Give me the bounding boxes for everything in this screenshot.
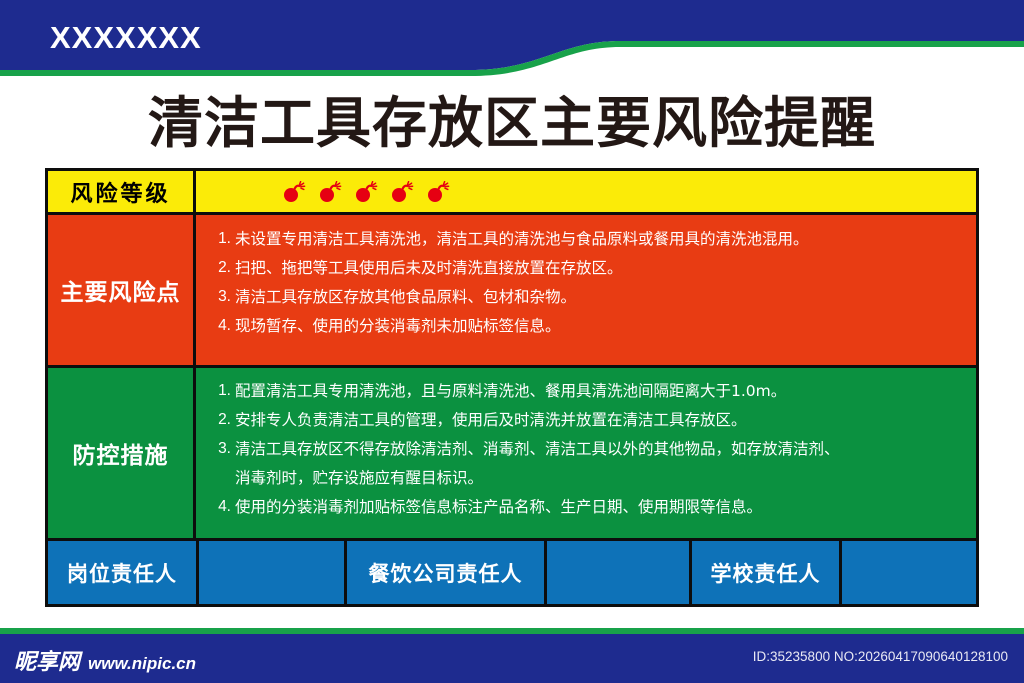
list-item: 1. 配置清洁工具专用清洗池，且与原料清洗池、餐用具清洗池间隔距离大于1.0m。: [209, 379, 966, 403]
list-item-number: 2.: [209, 408, 231, 432]
responsibility-label-position: 岗位责任人: [48, 541, 196, 604]
table-row-responsibility: 岗位责任人 餐饮公司责任人 学校责任人: [48, 541, 976, 604]
measures-list: 1. 配置清洁工具专用清洗池，且与原料清洗池、餐用具清洗池间隔距离大于1.0m。…: [196, 368, 976, 538]
page-title: 清洁工具存放区主要风险提醒: [0, 96, 1024, 151]
list-item-number: 4.: [209, 314, 231, 338]
table-row-risk-level: 风险等级: [48, 171, 976, 212]
watermark-id: ID:35235800 NO:20260417090640128100: [753, 649, 1008, 664]
risk-level-label: 风险等级: [48, 171, 196, 212]
watermark-logo-text: 昵享网: [14, 644, 80, 676]
list-item: 3. 清洁工具存放区不得存放除清洁剂、消毒剂、清洁工具以外的其他物品，如存放清洁…: [209, 437, 966, 461]
list-item-text: 安排专人负责清洁工具的管理，使用后及时清洗并放置在清洁工具存放区。: [235, 408, 966, 432]
list-item-number: 1.: [209, 227, 231, 251]
bomb-icon: [390, 181, 414, 203]
list-item-text: 配置清洁工具专用清洗池，且与原料清洗池、餐用具清洗池间隔距离大于1.0m。: [235, 379, 966, 403]
list-item-number: 3.: [209, 285, 231, 309]
header-band: XXXXXXX: [0, 0, 1024, 80]
bomb-icon: [354, 181, 378, 203]
list-item: 2. 安排专人负责清洁工具的管理，使用后及时清洗并放置在清洁工具存放区。: [209, 408, 966, 432]
risk-table: 风险等级: [45, 168, 979, 607]
list-item-number: 1.: [209, 379, 231, 403]
list-item: 2. 扫把、拖把等工具使用后未及时清洗直接放置在存放区。: [209, 256, 966, 280]
bomb-icon: [282, 181, 306, 203]
list-item-text: 未设置专用清洁工具清洗池，清洁工具的清洗池与食品原料或餐用具的清洗池混用。: [235, 227, 966, 251]
responsibility-value-school[interactable]: [839, 541, 976, 604]
list-item: 1. 未设置专用清洁工具清洗池，清洁工具的清洗池与食品原料或餐用具的清洗池混用。: [209, 227, 966, 251]
bomb-icon: [426, 181, 450, 203]
list-item-number: 3.: [209, 437, 231, 461]
responsibility-label-catering: 餐饮公司责任人: [344, 541, 544, 604]
list-item: 3. 清洁工具存放区存放其他食品原料、包材和杂物。: [209, 285, 966, 309]
watermark-logo: 昵享网 www.nipic.cn: [14, 644, 196, 676]
risk-points-list: 1. 未设置专用清洁工具清洗池，清洁工具的清洗池与食品原料或餐用具的清洗池混用。…: [196, 215, 976, 365]
list-item-text: 清洁工具存放区不得存放除清洁剂、消毒剂、清洁工具以外的其他物品，如存放清洁剂、: [235, 437, 966, 461]
risk-points-label: 主要风险点: [48, 215, 196, 365]
poster-canvas: XXXXXXX 清洁工具存放区主要风险提醒 风险等级: [0, 0, 1024, 683]
measures-label: 防控措施: [48, 368, 196, 538]
watermark-url: www.nipic.cn: [88, 654, 196, 674]
list-item-text: 清洁工具存放区存放其他食品原料、包材和杂物。: [235, 285, 966, 309]
organization-name: XXXXXXX: [50, 20, 202, 56]
list-item-text: 使用的分装消毒剂加贴标签信息标注产品名称、生产日期、使用期限等信息。: [235, 495, 966, 519]
list-item: 4. 使用的分装消毒剂加贴标签信息标注产品名称、生产日期、使用期限等信息。: [209, 495, 966, 519]
bomb-icon: [318, 181, 342, 203]
risk-level-rating: [196, 171, 976, 212]
responsibility-value-catering[interactable]: [544, 541, 689, 604]
list-item-continuation: 消毒剂时，贮存设施应有醒目标识。: [209, 466, 966, 490]
responsibility-value-position[interactable]: [196, 541, 344, 604]
list-item: 4. 现场暂存、使用的分装消毒剂未加贴标签信息。: [209, 314, 966, 338]
table-row-risk-points: 主要风险点 1. 未设置专用清洁工具清洗池，清洁工具的清洗池与食品原料或餐用具的…: [48, 215, 976, 365]
list-item-number: 2.: [209, 256, 231, 280]
footer-band: 昵享网 www.nipic.cn ID:35235800 NO:20260417…: [0, 634, 1024, 683]
table-row-measures: 防控措施 1. 配置清洁工具专用清洗池，且与原料清洗池、餐用具清洗池间隔距离大于…: [48, 368, 976, 538]
list-item-text: 现场暂存、使用的分装消毒剂未加贴标签信息。: [235, 314, 966, 338]
responsibility-label-school: 学校责任人: [689, 541, 839, 604]
list-item-number: 4.: [209, 495, 231, 519]
list-item-text: 扫把、拖把等工具使用后未及时清洗直接放置在存放区。: [235, 256, 966, 280]
